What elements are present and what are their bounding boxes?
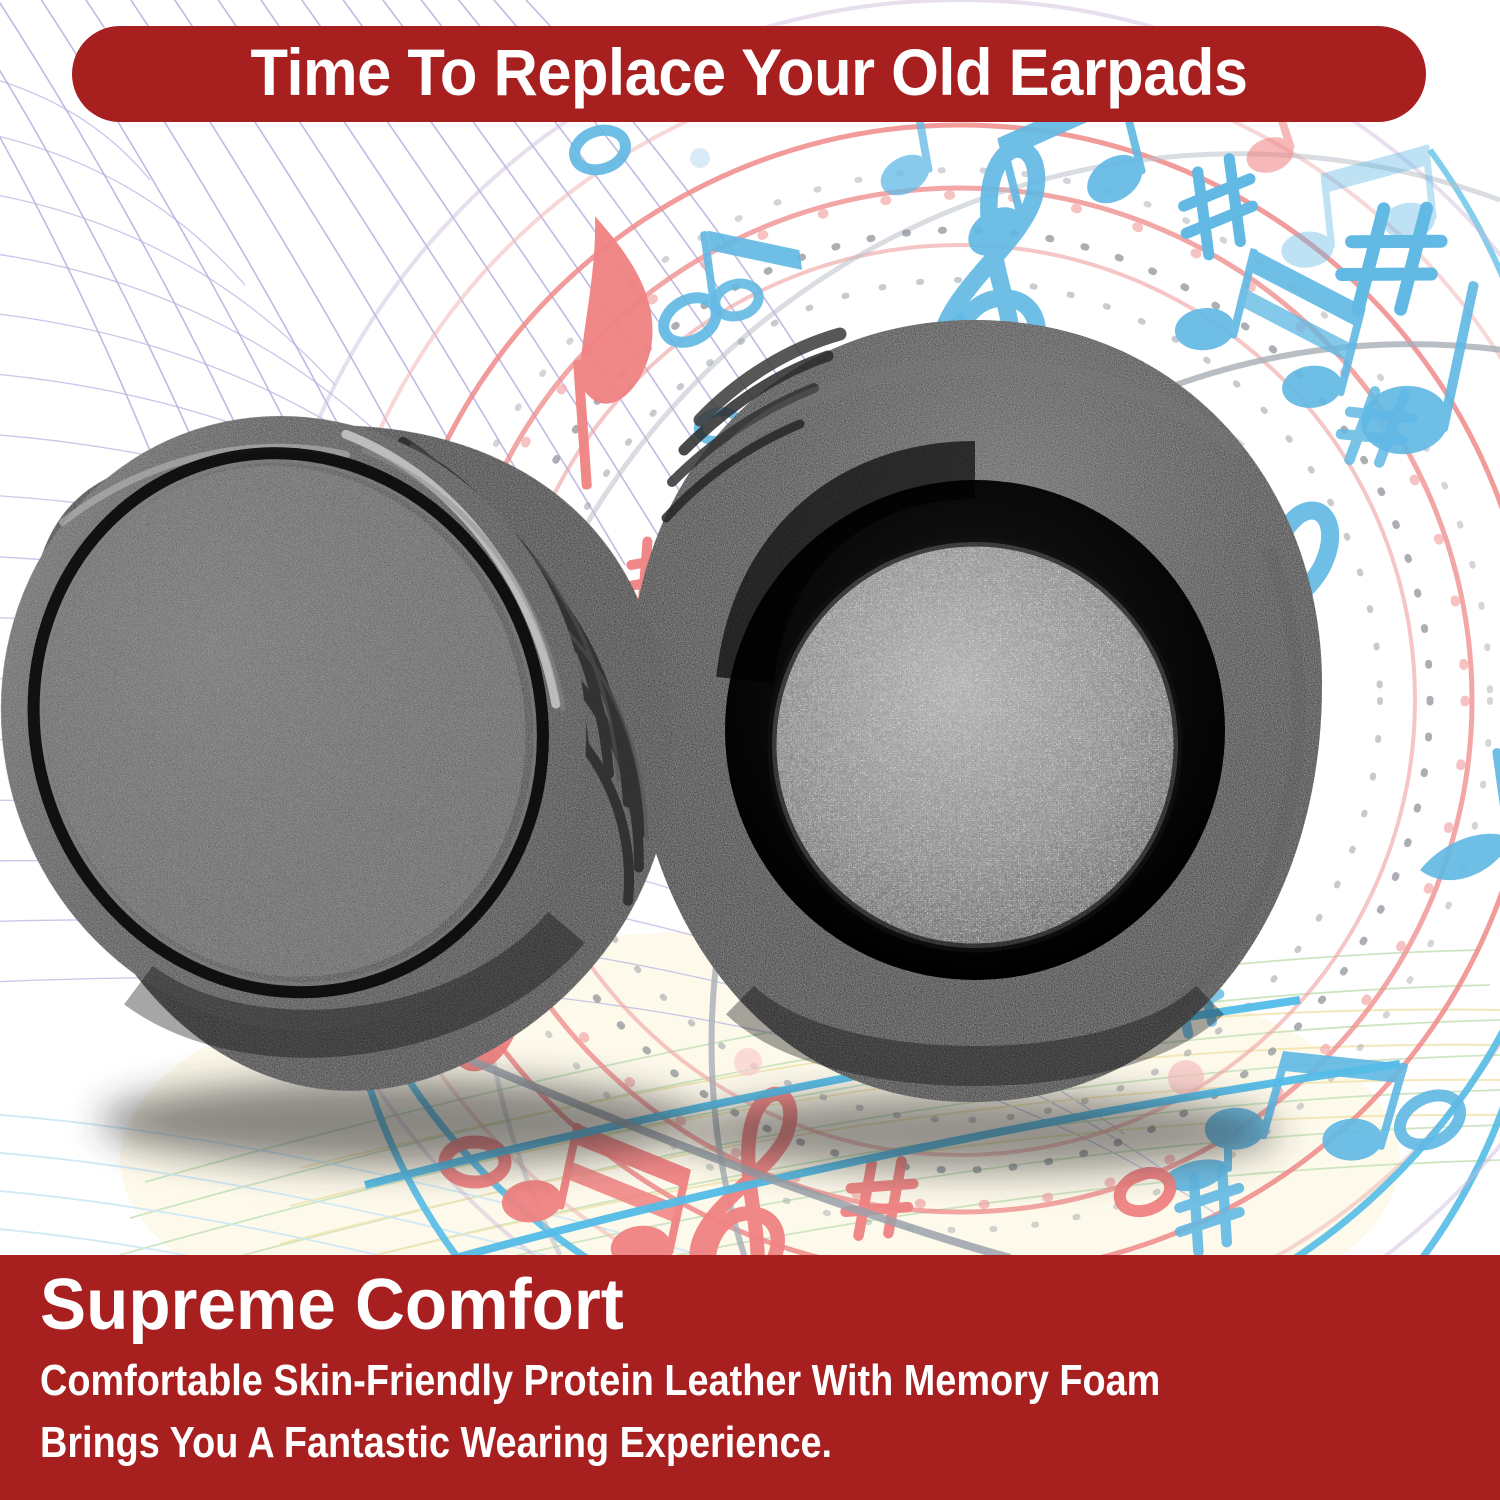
- product-marketing-image: Time To Replace Your Old Earpads Supreme…: [0, 0, 1500, 1500]
- feature-heading: Supreme Comfort: [40, 1269, 624, 1341]
- earpad-shadow-right: [680, 1092, 1280, 1172]
- earpad-right: [630, 320, 1322, 1102]
- feature-description: Comfortable Skin-Friendly Protein Leathe…: [40, 1350, 1270, 1474]
- header-banner: Time To Replace Your Old Earpads: [72, 26, 1426, 122]
- page-title: Time To Replace Your Old Earpads: [250, 39, 1247, 105]
- earpad-shadow-left: [100, 1078, 700, 1166]
- footer-banner: Supreme Comfort Comfortable Skin-Friendl…: [0, 1255, 1500, 1500]
- product-photo: [0, 120, 1500, 1260]
- earpad-left: [0, 301, 741, 1165]
